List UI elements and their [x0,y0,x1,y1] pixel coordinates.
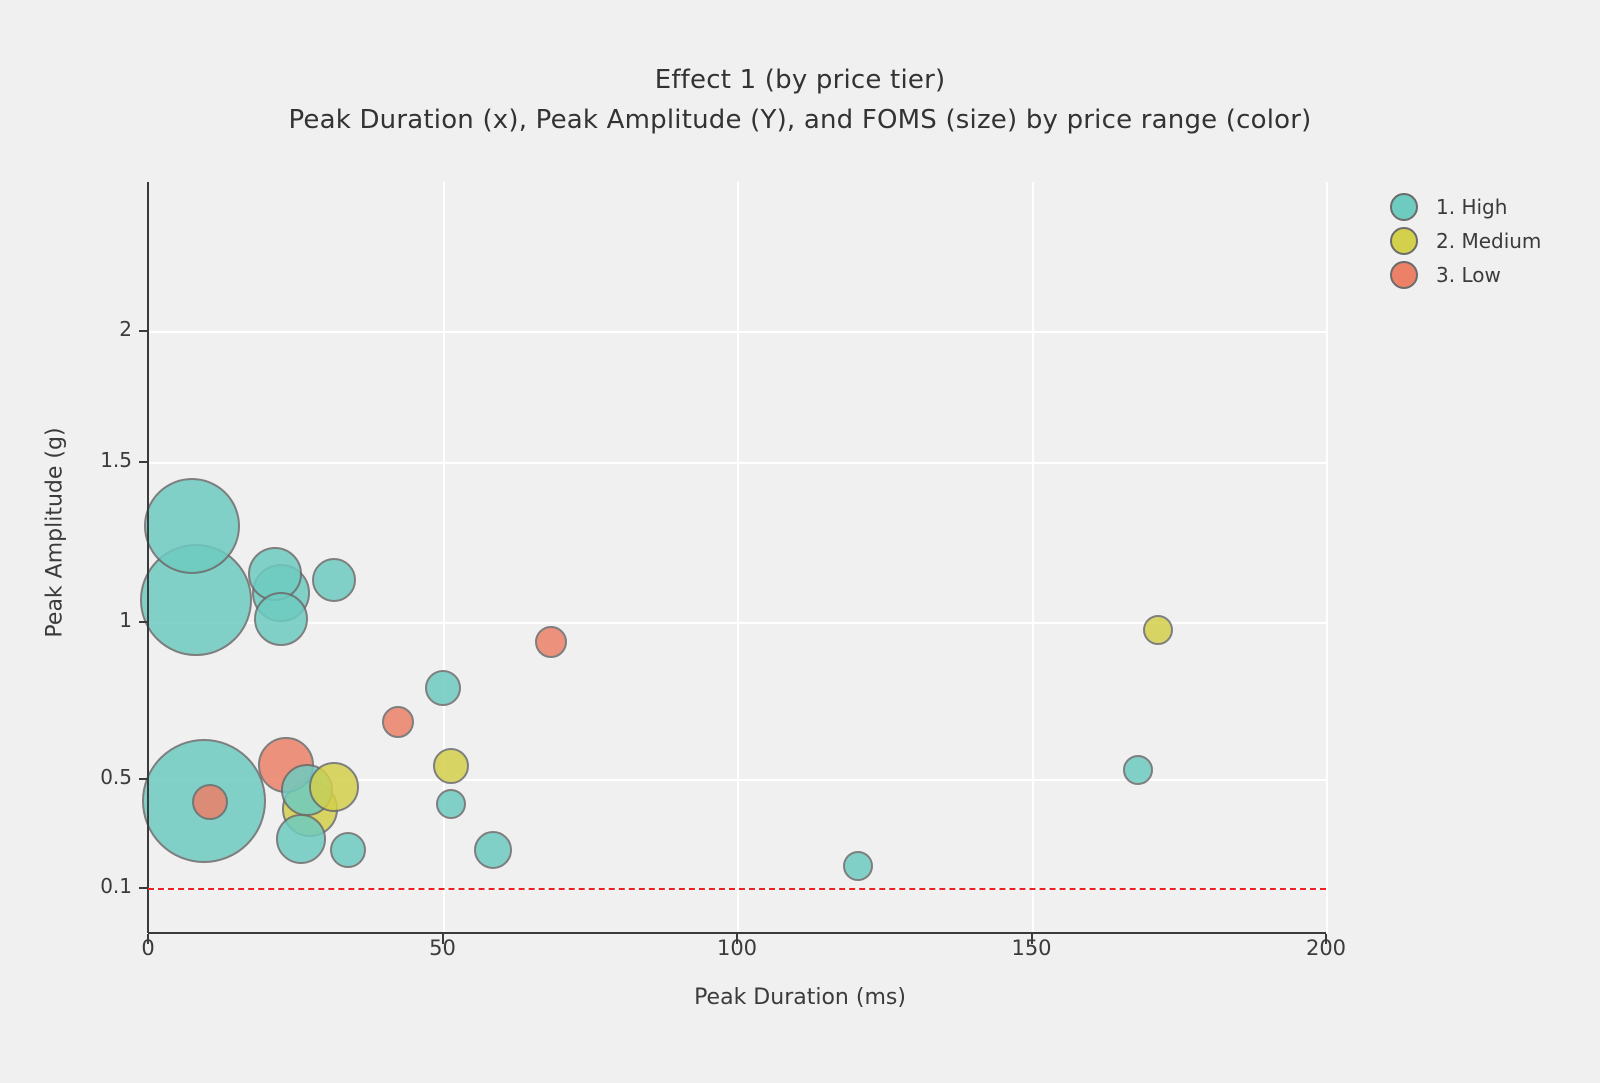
bubble-marker[interactable] [843,851,873,881]
plot-area [148,182,1326,933]
bubble-marker[interactable] [535,626,567,658]
legend-marker-icon [1390,261,1418,289]
y-axis-label: Peak Amplitude (g) [43,273,68,793]
gridline-vertical [1326,182,1328,933]
y-axis-line [147,182,149,933]
bubble-marker[interactable] [276,814,326,864]
bubble-marker[interactable] [474,831,512,869]
bubble-marker[interactable] [144,478,240,574]
y-tick-mark [139,461,148,463]
legend-item[interactable]: 3. Low [1390,258,1590,292]
gridline-vertical [737,182,739,933]
x-tick-label: 0 [141,936,154,960]
chart-title-block: Effect 1 (by price tier) Peak Duration (… [0,60,1600,140]
bubble-marker[interactable] [312,558,356,602]
legend-label: 3. Low [1436,263,1501,287]
y-tick-mark [139,330,148,332]
x-axis-label: Peak Duration (ms) [0,985,1600,1010]
chart-title: Effect 1 (by price tier) [0,60,1600,100]
bubble-marker[interactable] [309,762,359,812]
bubble-marker[interactable] [192,784,228,820]
gridline-vertical [443,182,445,933]
y-tick-label: 1.5 [100,448,132,472]
bubble-marker[interactable] [1123,755,1153,785]
bubble-marker[interactable] [330,832,366,868]
y-tick-label: 0.1 [100,874,132,898]
bubble-marker[interactable] [425,670,461,706]
chart-figure: Effect 1 (by price tier) Peak Duration (… [0,0,1600,1083]
legend-item[interactable]: 1. High [1390,190,1590,224]
x-tick-label: 200 [1306,936,1346,960]
x-tick-label: 150 [1011,936,1051,960]
bubble-marker[interactable] [382,706,414,738]
threshold-line [148,888,1326,890]
x-tick-label: 50 [429,936,456,960]
y-tick-label: 2 [119,317,132,341]
y-tick-label: 0.5 [100,765,132,789]
legend-marker-icon [1390,227,1418,255]
bubble-marker[interactable] [254,592,308,646]
x-tick-label: 100 [717,936,757,960]
bubble-marker[interactable] [1143,615,1173,645]
legend-label: 2. Medium [1436,229,1541,253]
y-tick-mark [139,621,148,623]
bubble-marker[interactable] [436,789,466,819]
legend-label: 1. High [1436,195,1507,219]
legend-marker-icon [1390,193,1418,221]
chart-legend: 1. High2. Medium3. Low [1390,190,1590,292]
chart-subtitle: Peak Duration (x), Peak Amplitude (Y), a… [0,100,1600,140]
legend-item[interactable]: 2. Medium [1390,224,1590,258]
y-tick-mark [139,778,148,780]
y-tick-label: 1 [119,608,132,632]
gridline-vertical [1032,182,1034,933]
y-tick-mark [139,887,148,889]
